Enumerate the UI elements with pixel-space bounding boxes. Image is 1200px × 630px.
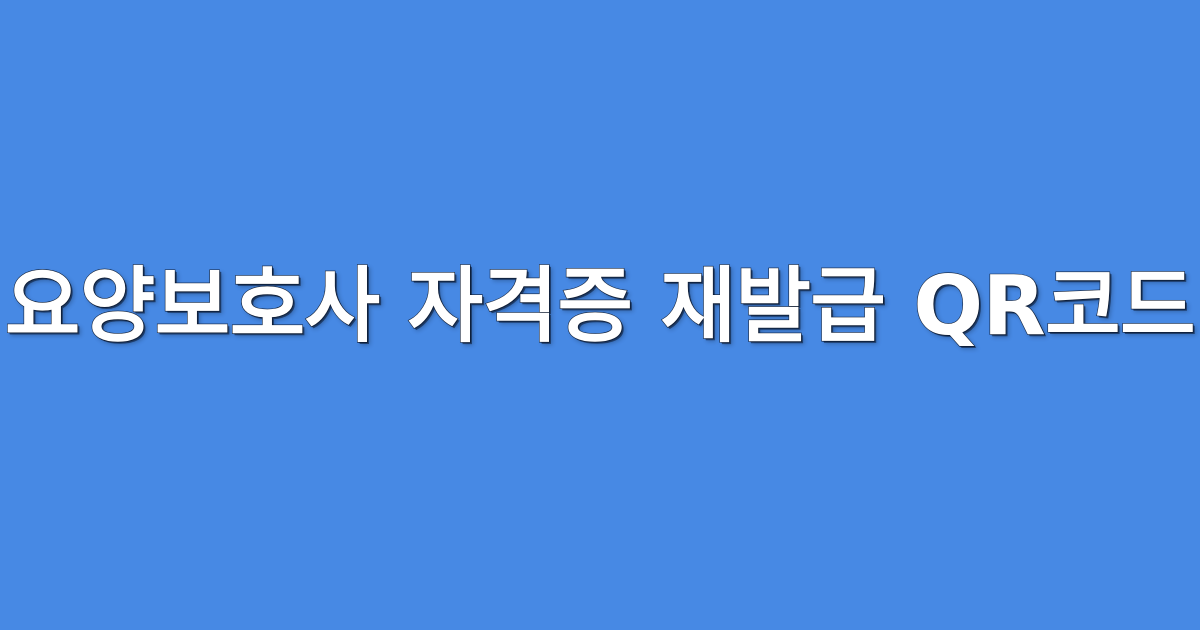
og-image-canvas: 요양보호사 자격증 재발급 QR코드	[0, 0, 1200, 630]
headline-container: 요양보호사 자격증 재발급 QR코드	[0, 261, 1200, 353]
page-title: 요양보호사 자격증 재발급 QR코드	[5, 261, 1195, 353]
